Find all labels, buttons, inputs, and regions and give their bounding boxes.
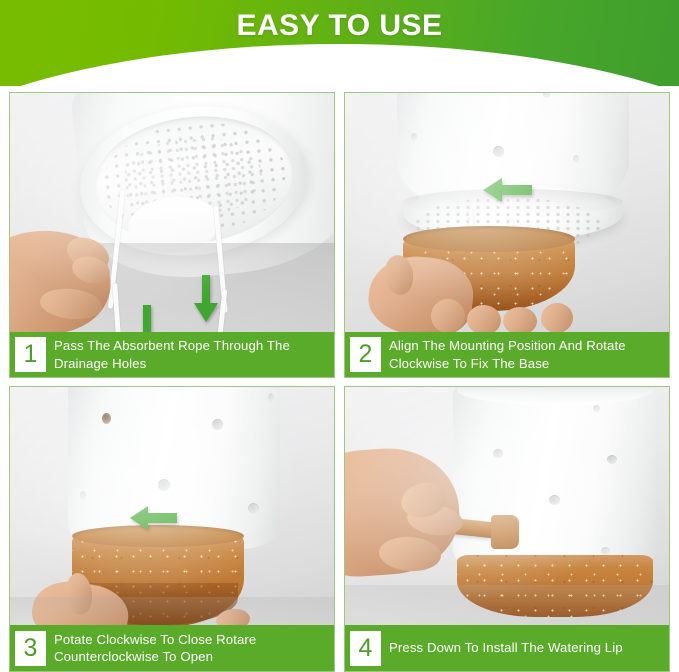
drainage-hole (573, 155, 579, 163)
step-1-caption-text: Pass The Absorbent Rope Through The Drai… (54, 337, 334, 372)
drainage-hole (493, 146, 504, 157)
step-number-2: 2 (350, 337, 381, 372)
step-panel-3: 3 Potate Clockwise To Close Rotare Count… (9, 386, 335, 672)
drainage-hole (593, 405, 600, 412)
step-number-3: 3 (15, 631, 46, 666)
step-number-4: 4 (350, 631, 381, 666)
drainage-hole (102, 413, 111, 424)
drainage-hole (549, 495, 560, 505)
step-panel-1: 1 Pass The Absorbent Rope Through The Dr… (9, 92, 335, 378)
pot-body (453, 387, 657, 571)
step-1-caption-bar: 1 Pass The Absorbent Rope Through The Dr… (10, 332, 334, 377)
arrow-down-right-icon (193, 275, 219, 323)
step-panel-2: 2 Align The Mounting Position And Rotate… (344, 92, 670, 378)
step-3-photo (10, 387, 334, 627)
step-4-photo (345, 387, 669, 627)
terracotta-base-rim (403, 226, 575, 252)
step-3-caption-text: Potate Clockwise To Close Rotare Counter… (54, 631, 334, 666)
step-panel-4: 4 Press Down To Install The Watering Lip (344, 386, 670, 672)
drainage-hole (411, 133, 417, 141)
step-3-caption-bar: 3 Potate Clockwise To Close Rotare Count… (10, 625, 334, 671)
step-2-caption-bar: 2 Align The Mounting Position And Rotate… (345, 332, 669, 377)
arrow-left-icon (483, 177, 533, 203)
drainage-hole (607, 455, 617, 464)
step-4-caption-text: Press Down To Install The Watering Lip (389, 639, 623, 656)
drainage-hole (493, 449, 503, 458)
finger-3 (503, 306, 538, 334)
drainage-hole (158, 479, 170, 491)
drainage-hole (80, 491, 86, 500)
background-floor-line (345, 585, 669, 627)
step-1-photo (10, 93, 334, 334)
step-2-photo (345, 93, 669, 334)
page-title: EASY TO USE (0, 9, 679, 43)
watering-lip-tab (491, 515, 519, 549)
arrow-left-icon (130, 505, 178, 531)
arrow-down-left-icon (134, 305, 160, 334)
drainage-hole (212, 419, 223, 430)
drainage-hole (248, 503, 259, 514)
step-number-1: 1 (15, 337, 46, 372)
step-2-caption-text: Align The Mounting Position And Rotate C… (389, 337, 669, 372)
steps-grid: 1 Pass The Absorbent Rope Through The Dr… (9, 92, 670, 672)
drainage-hole (601, 547, 610, 555)
drainage-hole (268, 393, 274, 402)
step-4-caption-bar: 4 Press Down To Install The Watering Lip (345, 625, 669, 671)
header-banner: EASY TO USE (0, 0, 679, 86)
finger-4 (540, 301, 575, 334)
background-floor-line (10, 597, 334, 627)
